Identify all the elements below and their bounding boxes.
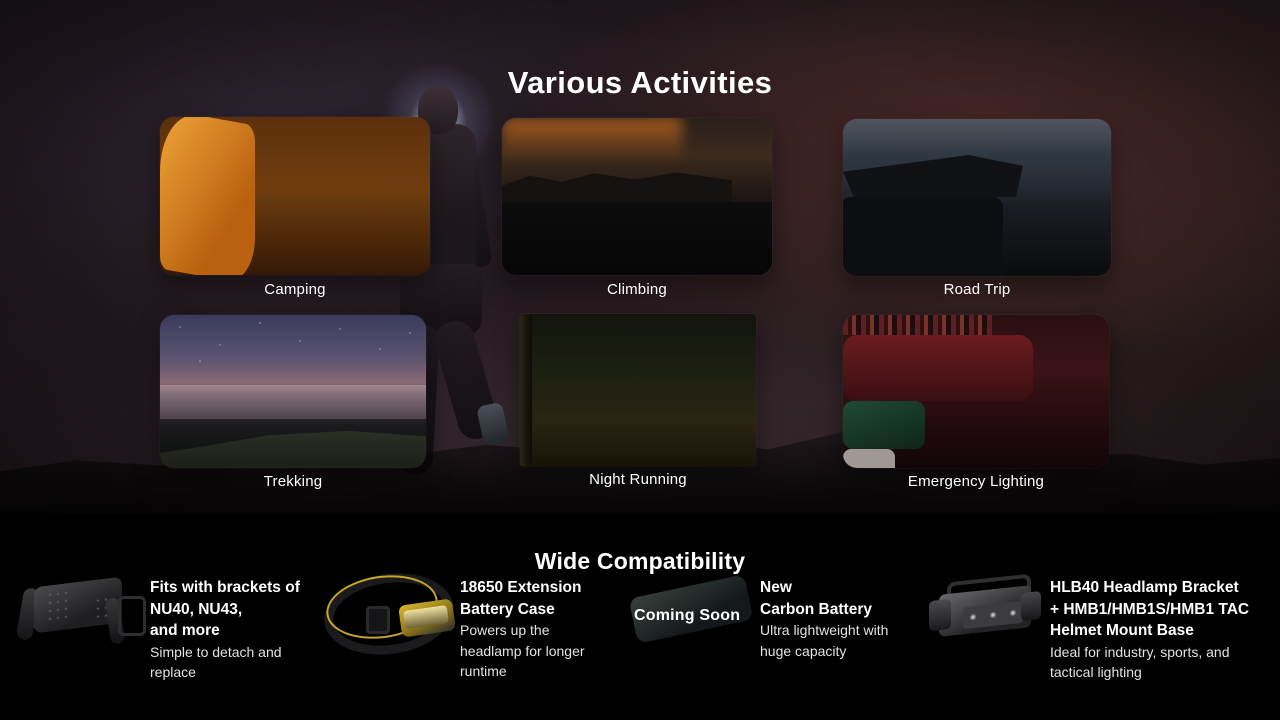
trekking-scene-art [160, 315, 426, 468]
camping-photo [160, 117, 430, 275]
vehicle-body [843, 197, 1003, 276]
blanket [843, 401, 925, 449]
emergency-scene-art [843, 315, 1109, 468]
tent-flap [160, 117, 255, 275]
road-trip-scene-art [843, 119, 1111, 276]
night-running-photo [520, 314, 756, 466]
compatibility-title: Wide Compatibility [0, 548, 1280, 575]
compat-description-line: replace [150, 662, 300, 683]
activity-label-emergency-lighting: Emergency Lighting [843, 473, 1109, 490]
lake-water [502, 202, 772, 275]
night-running-scene-art [520, 314, 756, 466]
climbing-photo [502, 118, 772, 275]
page-title: Various Activities [0, 65, 1280, 101]
coastal-cliff [160, 419, 426, 468]
compat-description-line: headlamp for longer [460, 641, 585, 662]
compat-description-line: huge capacity [760, 641, 888, 662]
climbing-scene-art [502, 118, 772, 275]
roof-tent [843, 155, 1023, 197]
compat-description-line: Simple to detach and [150, 642, 300, 663]
sunset-sky-glow [502, 118, 682, 162]
compat-heading-line: Battery Case [460, 599, 585, 621]
compat-heading-line: Fits with brackets of [150, 577, 300, 599]
tree-trunk-right [520, 464, 530, 466]
sea-band [160, 385, 426, 419]
mountain-ridge [502, 162, 732, 202]
activity-card-night-running[interactable]: Night Running [520, 314, 756, 466]
compat-item-battery-case-copy: 18650 Extension Battery Case Powers up t… [460, 577, 585, 682]
compat-heading-line: Helmet Mount Base [1050, 620, 1249, 642]
bracket-vent-holes-left [46, 589, 68, 622]
slide-canvas: Various Activities Camping [0, 0, 1280, 720]
various-activities-section: Various Activities Camping [0, 0, 1280, 513]
headlamp-with-strap-image [318, 564, 458, 652]
activity-card-emergency-lighting[interactable]: Emergency Lighting [843, 315, 1109, 468]
books-row [843, 315, 993, 335]
compat-heading-line: + HMB1/HMB1S/HMB1 TAC [1050, 599, 1249, 621]
night-sky-stars [160, 315, 426, 385]
compat-heading-line: HLB40 Headlamp Bracket [1050, 577, 1249, 599]
compat-heading-line: 18650 Extension [460, 577, 585, 599]
compat-description-line: Ultra lightweight with [760, 620, 888, 641]
activity-card-camping[interactable]: Camping [160, 117, 430, 275]
hlb40-side-mount-left [929, 599, 951, 631]
sofa [843, 335, 1033, 401]
activity-label-climbing: Climbing [502, 281, 772, 298]
activity-card-climbing[interactable]: Climbing [502, 118, 772, 275]
horizon-haze [843, 119, 1111, 155]
hlb40-side-mount-right [1021, 591, 1041, 621]
activity-card-trekking[interactable]: Trekking [160, 315, 426, 468]
hlb40-helmet-light-image [925, 568, 1045, 646]
compat-description-line: runtime [460, 661, 585, 682]
wide-compatibility-section: Wide Compatibility Fits with brackets of… [0, 513, 1280, 720]
compat-heading-line: Carbon Battery [760, 599, 888, 621]
bracket-clip [118, 596, 146, 636]
activity-label-camping: Camping [160, 281, 430, 298]
compat-description-line: tactical lighting [1050, 662, 1249, 683]
headlamp-buckle [366, 606, 390, 634]
compat-item-bracket-copy: Fits with brackets of NU40, NU43, and mo… [150, 577, 300, 683]
compat-item-hlb40-copy: HLB40 Headlamp Bracket + HMB1/HMB1S/HMB1… [1050, 577, 1249, 683]
compat-heading-line: New [760, 577, 888, 599]
compat-description-line: Ideal for industry, sports, and [1050, 642, 1249, 663]
activity-label-road-trip: Road Trip [843, 281, 1111, 298]
hero-sock [476, 402, 510, 447]
emergency-lighting-photo [843, 315, 1109, 468]
compat-item-carbon-battery-copy: New Carbon Battery Ultra lightweight wit… [760, 577, 888, 661]
coming-soon-badge: Coming Soon [634, 607, 740, 625]
tree-trunk-left [520, 314, 532, 464]
activity-label-trekking: Trekking [160, 473, 426, 490]
compat-heading-line: NU40, NU43, [150, 599, 300, 621]
compat-heading-line: and more [150, 620, 300, 642]
trekking-photo [160, 315, 426, 468]
camping-scene-art [160, 117, 430, 275]
activity-card-road-trip[interactable]: Road Trip [843, 119, 1111, 276]
compat-description-line: Powers up the [460, 620, 585, 641]
pillow [843, 449, 895, 468]
headlamp-bracket-image [12, 558, 144, 654]
activity-label-night-running: Night Running [520, 471, 756, 488]
road-trip-photo [843, 119, 1111, 276]
